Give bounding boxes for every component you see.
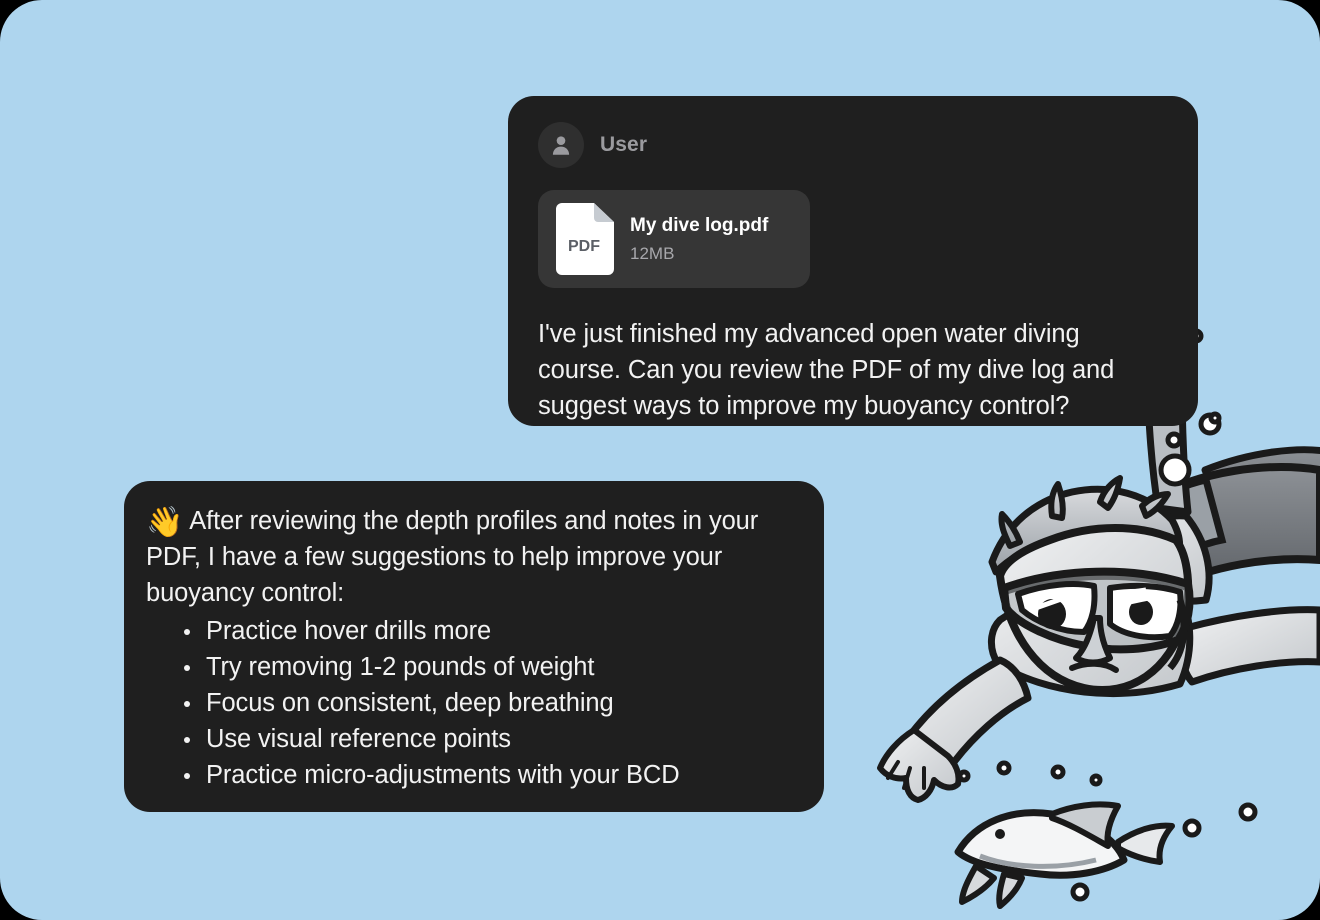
assistant-suggestion-list: Practice hover drills more Try removing …: [146, 613, 798, 793]
waving-hand-emoji: 👋: [146, 506, 183, 539]
list-item: Practice micro-adjustments with your BCD: [184, 757, 798, 793]
pdf-file-icon: PDF: [556, 203, 614, 275]
attachment-filesize: 12MB: [630, 244, 768, 264]
person-icon: [548, 132, 574, 158]
user-message-bubble: User PDF My dive log.pdf 12MB I've just …: [508, 96, 1198, 426]
attachment-filename: My dive log.pdf: [630, 215, 768, 237]
list-item: Try removing 1-2 pounds of weight: [184, 649, 798, 685]
attachment-card[interactable]: PDF My dive log.pdf 12MB: [538, 190, 810, 288]
list-item: Use visual reference points: [184, 721, 798, 757]
page-root: User PDF My dive log.pdf 12MB I've just …: [0, 0, 1320, 920]
user-message-header: User: [508, 96, 1198, 168]
user-author-label: User: [600, 133, 647, 157]
assistant-intro-text: After reviewing the depth profiles and n…: [146, 507, 758, 607]
assistant-message-bubble: 👋After reviewing the depth profiles and …: [124, 481, 824, 812]
assistant-intro-paragraph: 👋After reviewing the depth profiles and …: [146, 503, 798, 611]
user-message-text: I've just finished my advanced open wate…: [538, 316, 1168, 424]
attachment-meta: My dive log.pdf 12MB: [630, 215, 768, 264]
chat-thread: User PDF My dive log.pdf 12MB I've just …: [0, 0, 1320, 920]
avatar: [538, 122, 584, 168]
list-item: Focus on consistent, deep breathing: [184, 685, 798, 721]
svg-text:PDF: PDF: [568, 238, 600, 255]
list-item: Practice hover drills more: [184, 613, 798, 649]
